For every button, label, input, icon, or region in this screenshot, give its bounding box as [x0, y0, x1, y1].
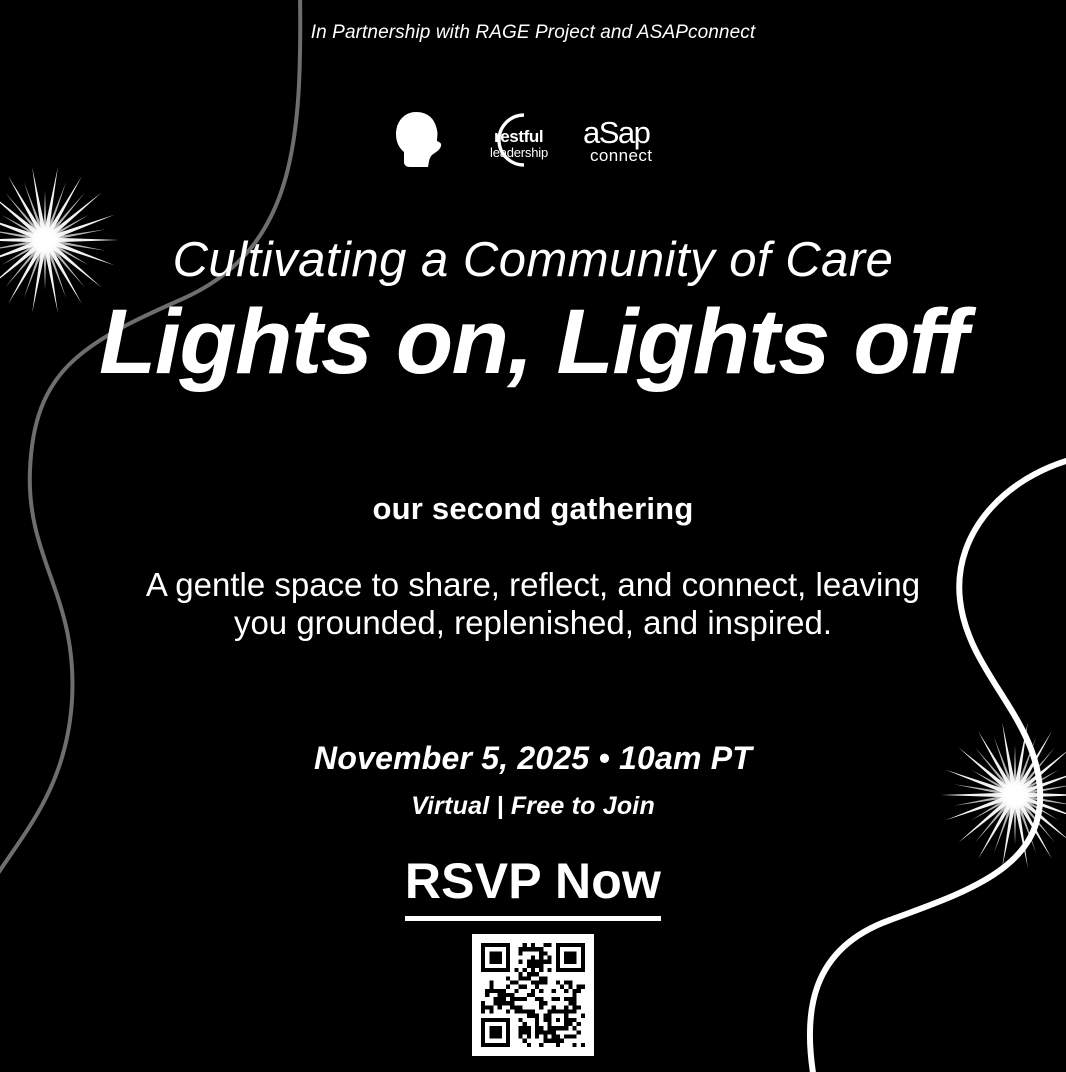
- page-title: Lights on, Lights off: [0, 296, 1066, 390]
- event-flyer: In Partnership with RAGE Project and ASA…: [0, 0, 1066, 1072]
- restful-leadership-logo: restful leadership: [478, 109, 556, 171]
- qr-code-image: [481, 943, 585, 1047]
- svg-text:connect: connect: [590, 146, 652, 165]
- partnership-line: In Partnership with RAGE Project and ASA…: [0, 22, 1066, 44]
- rsvp-container: RSVP Now: [0, 852, 1066, 921]
- kicker-heading: Cultivating a Community of Care: [0, 232, 1066, 288]
- asapconnect-logo: aSap connect: [582, 113, 672, 167]
- event-date-time: November 5, 2025 • 10am PT: [0, 740, 1066, 777]
- logo-row: restful leadership aSap connect: [0, 104, 1066, 176]
- svg-text:aSap: aSap: [583, 115, 650, 150]
- description-text: A gentle space to share, reflect, and co…: [133, 566, 933, 642]
- svg-text:leadership: leadership: [490, 145, 548, 160]
- qr-code[interactable]: [472, 934, 594, 1056]
- qr-code-container[interactable]: [0, 934, 1066, 1056]
- event-mode: Virtual | Free to Join: [0, 792, 1066, 821]
- subheading: our second gathering: [0, 491, 1066, 527]
- rage-project-logo: [394, 110, 452, 170]
- svg-text:restful: restful: [494, 127, 543, 146]
- rsvp-now-link[interactable]: RSVP Now: [405, 852, 661, 921]
